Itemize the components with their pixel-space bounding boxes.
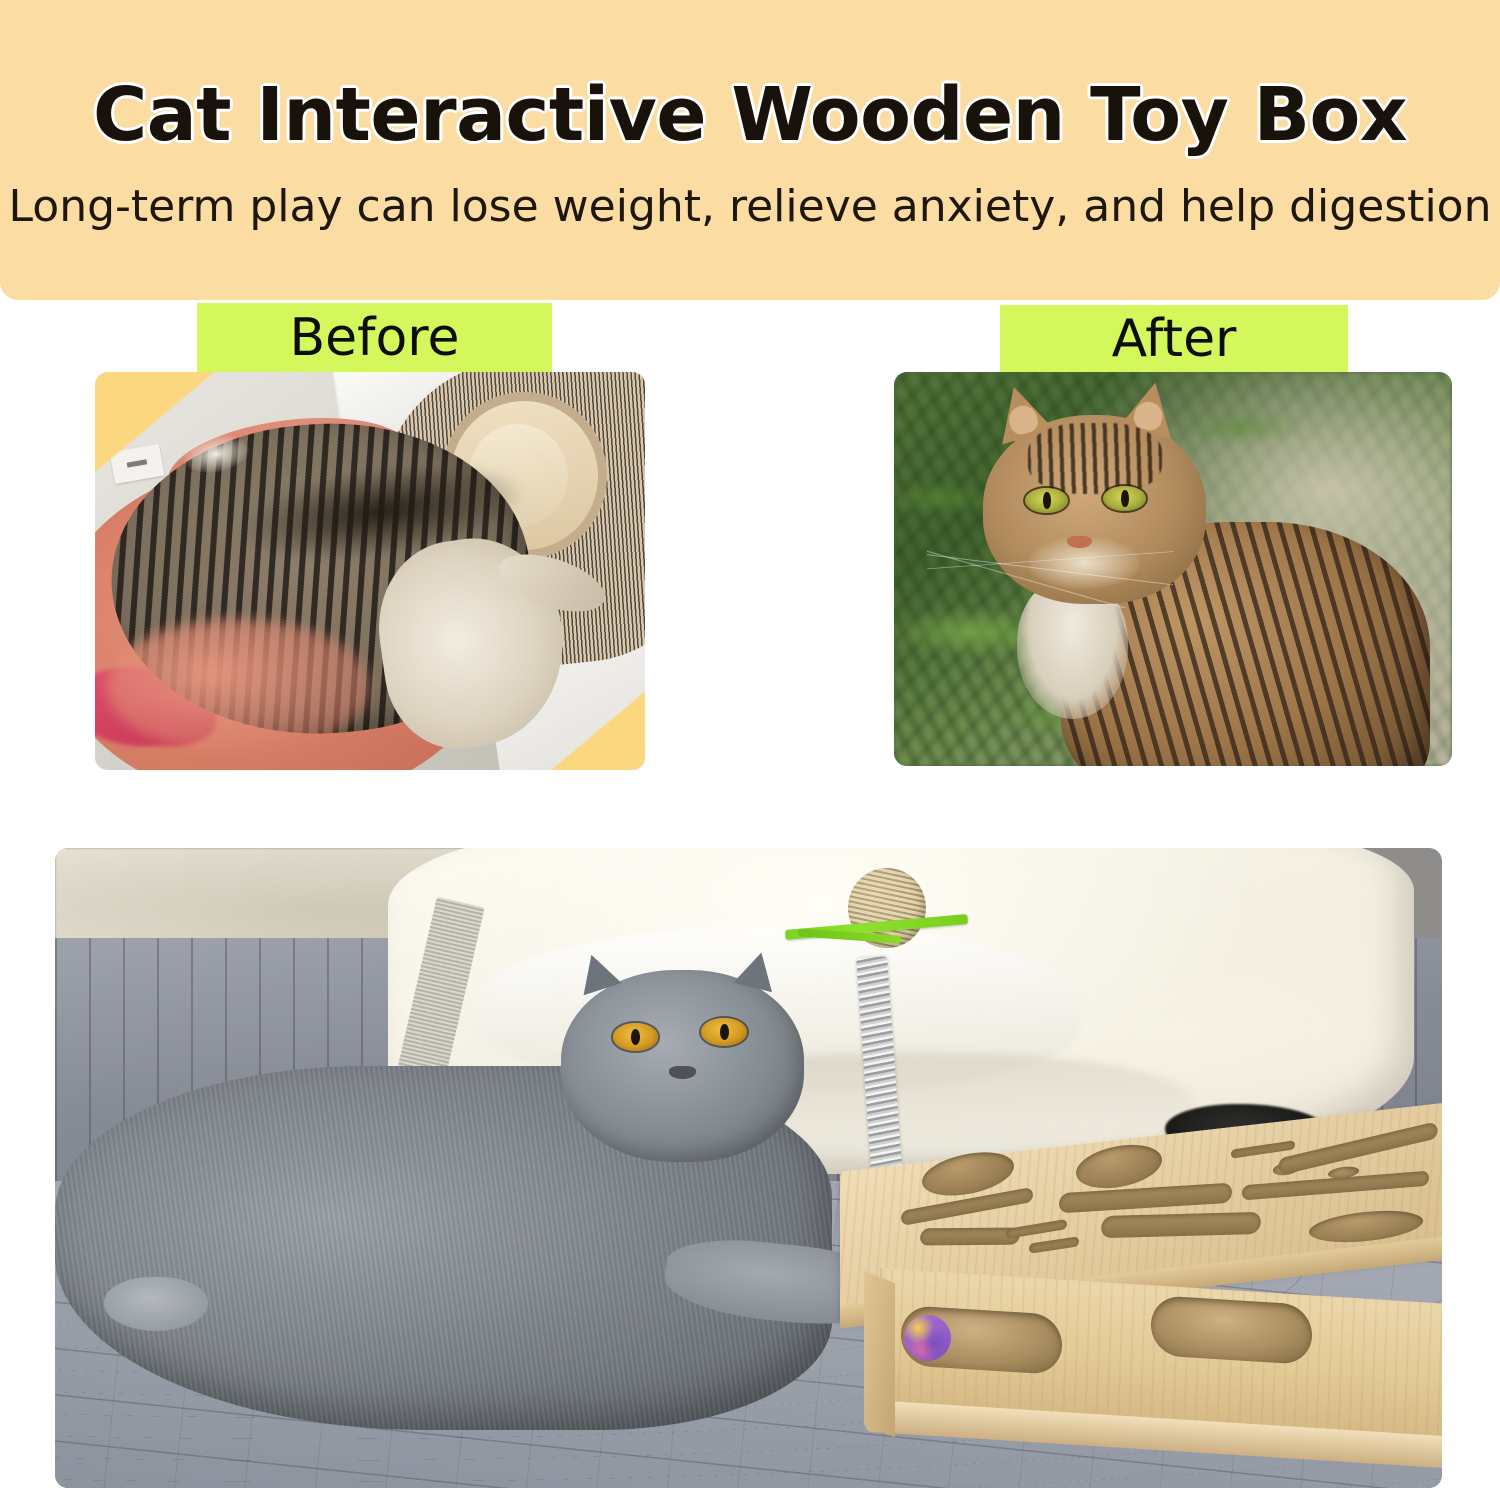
before-photo-scene — [95, 372, 645, 770]
after-label: After — [1000, 305, 1348, 373]
grey-cat-eye-right — [701, 1018, 747, 1046]
page-title: Cat Interactive Wooden Toy Box — [0, 72, 1500, 158]
main-product-photo — [55, 848, 1442, 1488]
toy-box-curve-2 — [1100, 1212, 1261, 1238]
grey-cat-nose — [669, 1066, 695, 1079]
cat-forehead-stripes — [1028, 423, 1162, 494]
colorful-ball-inside-box — [904, 1315, 951, 1361]
main-photo-scene — [55, 848, 1442, 1488]
before-label: Before — [197, 303, 552, 373]
toy-box-left-side-panel — [864, 1271, 895, 1437]
grey-cat-hind-paw — [104, 1277, 208, 1331]
page-subtitle: Long-term play can lose weight, relieve … — [0, 181, 1500, 232]
grey-cat-eye-left — [613, 1023, 659, 1051]
cat-eye-left — [1025, 488, 1067, 513]
cat-whiskers — [927, 530, 1173, 609]
before-photo — [95, 372, 645, 770]
after-photo-scene — [894, 372, 1452, 766]
header-banner: Cat Interactive Wooden Toy Box Long-term… — [0, 0, 1500, 300]
after-photo — [894, 372, 1452, 766]
before-corner-wedge-bottomright — [95, 372, 645, 770]
toy-box-side-opening-right — [1151, 1295, 1312, 1365]
